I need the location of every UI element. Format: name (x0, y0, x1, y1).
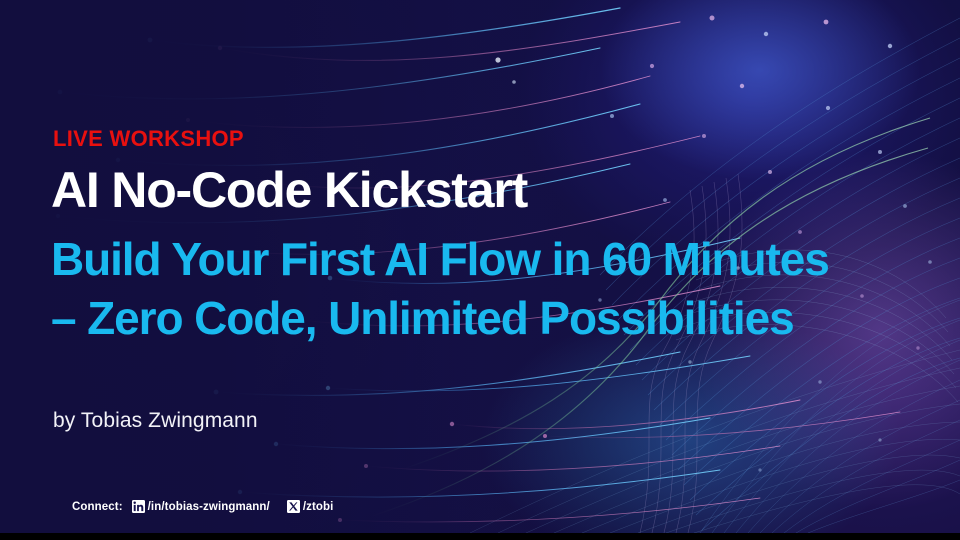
subtitle-line-2: – Zero Code, Unlimited Possibilities (51, 289, 829, 348)
eyebrow-label: LIVE WORKSHOP (53, 128, 244, 150)
x-twitter-handle: /ztobi (303, 501, 334, 513)
linkedin-icon (132, 500, 145, 513)
presentation-slide: LIVE WORKSHOP AI No-Code Kickstart Build… (0, 0, 960, 540)
page-title: AI No-Code Kickstart (51, 163, 527, 217)
subtitle: Build Your First AI Flow in 60 Minutes –… (51, 230, 829, 348)
subtitle-line-1: Build Your First AI Flow in 60 Minutes (51, 230, 829, 289)
x-twitter-icon (287, 500, 300, 513)
presenter-byline: by Tobias Zwingmann (53, 408, 258, 433)
linkedin-link[interactable]: /in/tobias-zwingmann/ (132, 500, 270, 513)
x-twitter-link[interactable]: /ztobi (287, 500, 334, 513)
slide-content: LIVE WORKSHOP AI No-Code Kickstart Build… (0, 0, 960, 540)
connect-bar: Connect: /in/tobias-zwingmann/ (72, 500, 333, 513)
connect-label: Connect: (72, 501, 123, 513)
linkedin-handle: /in/tobias-zwingmann/ (148, 501, 270, 513)
